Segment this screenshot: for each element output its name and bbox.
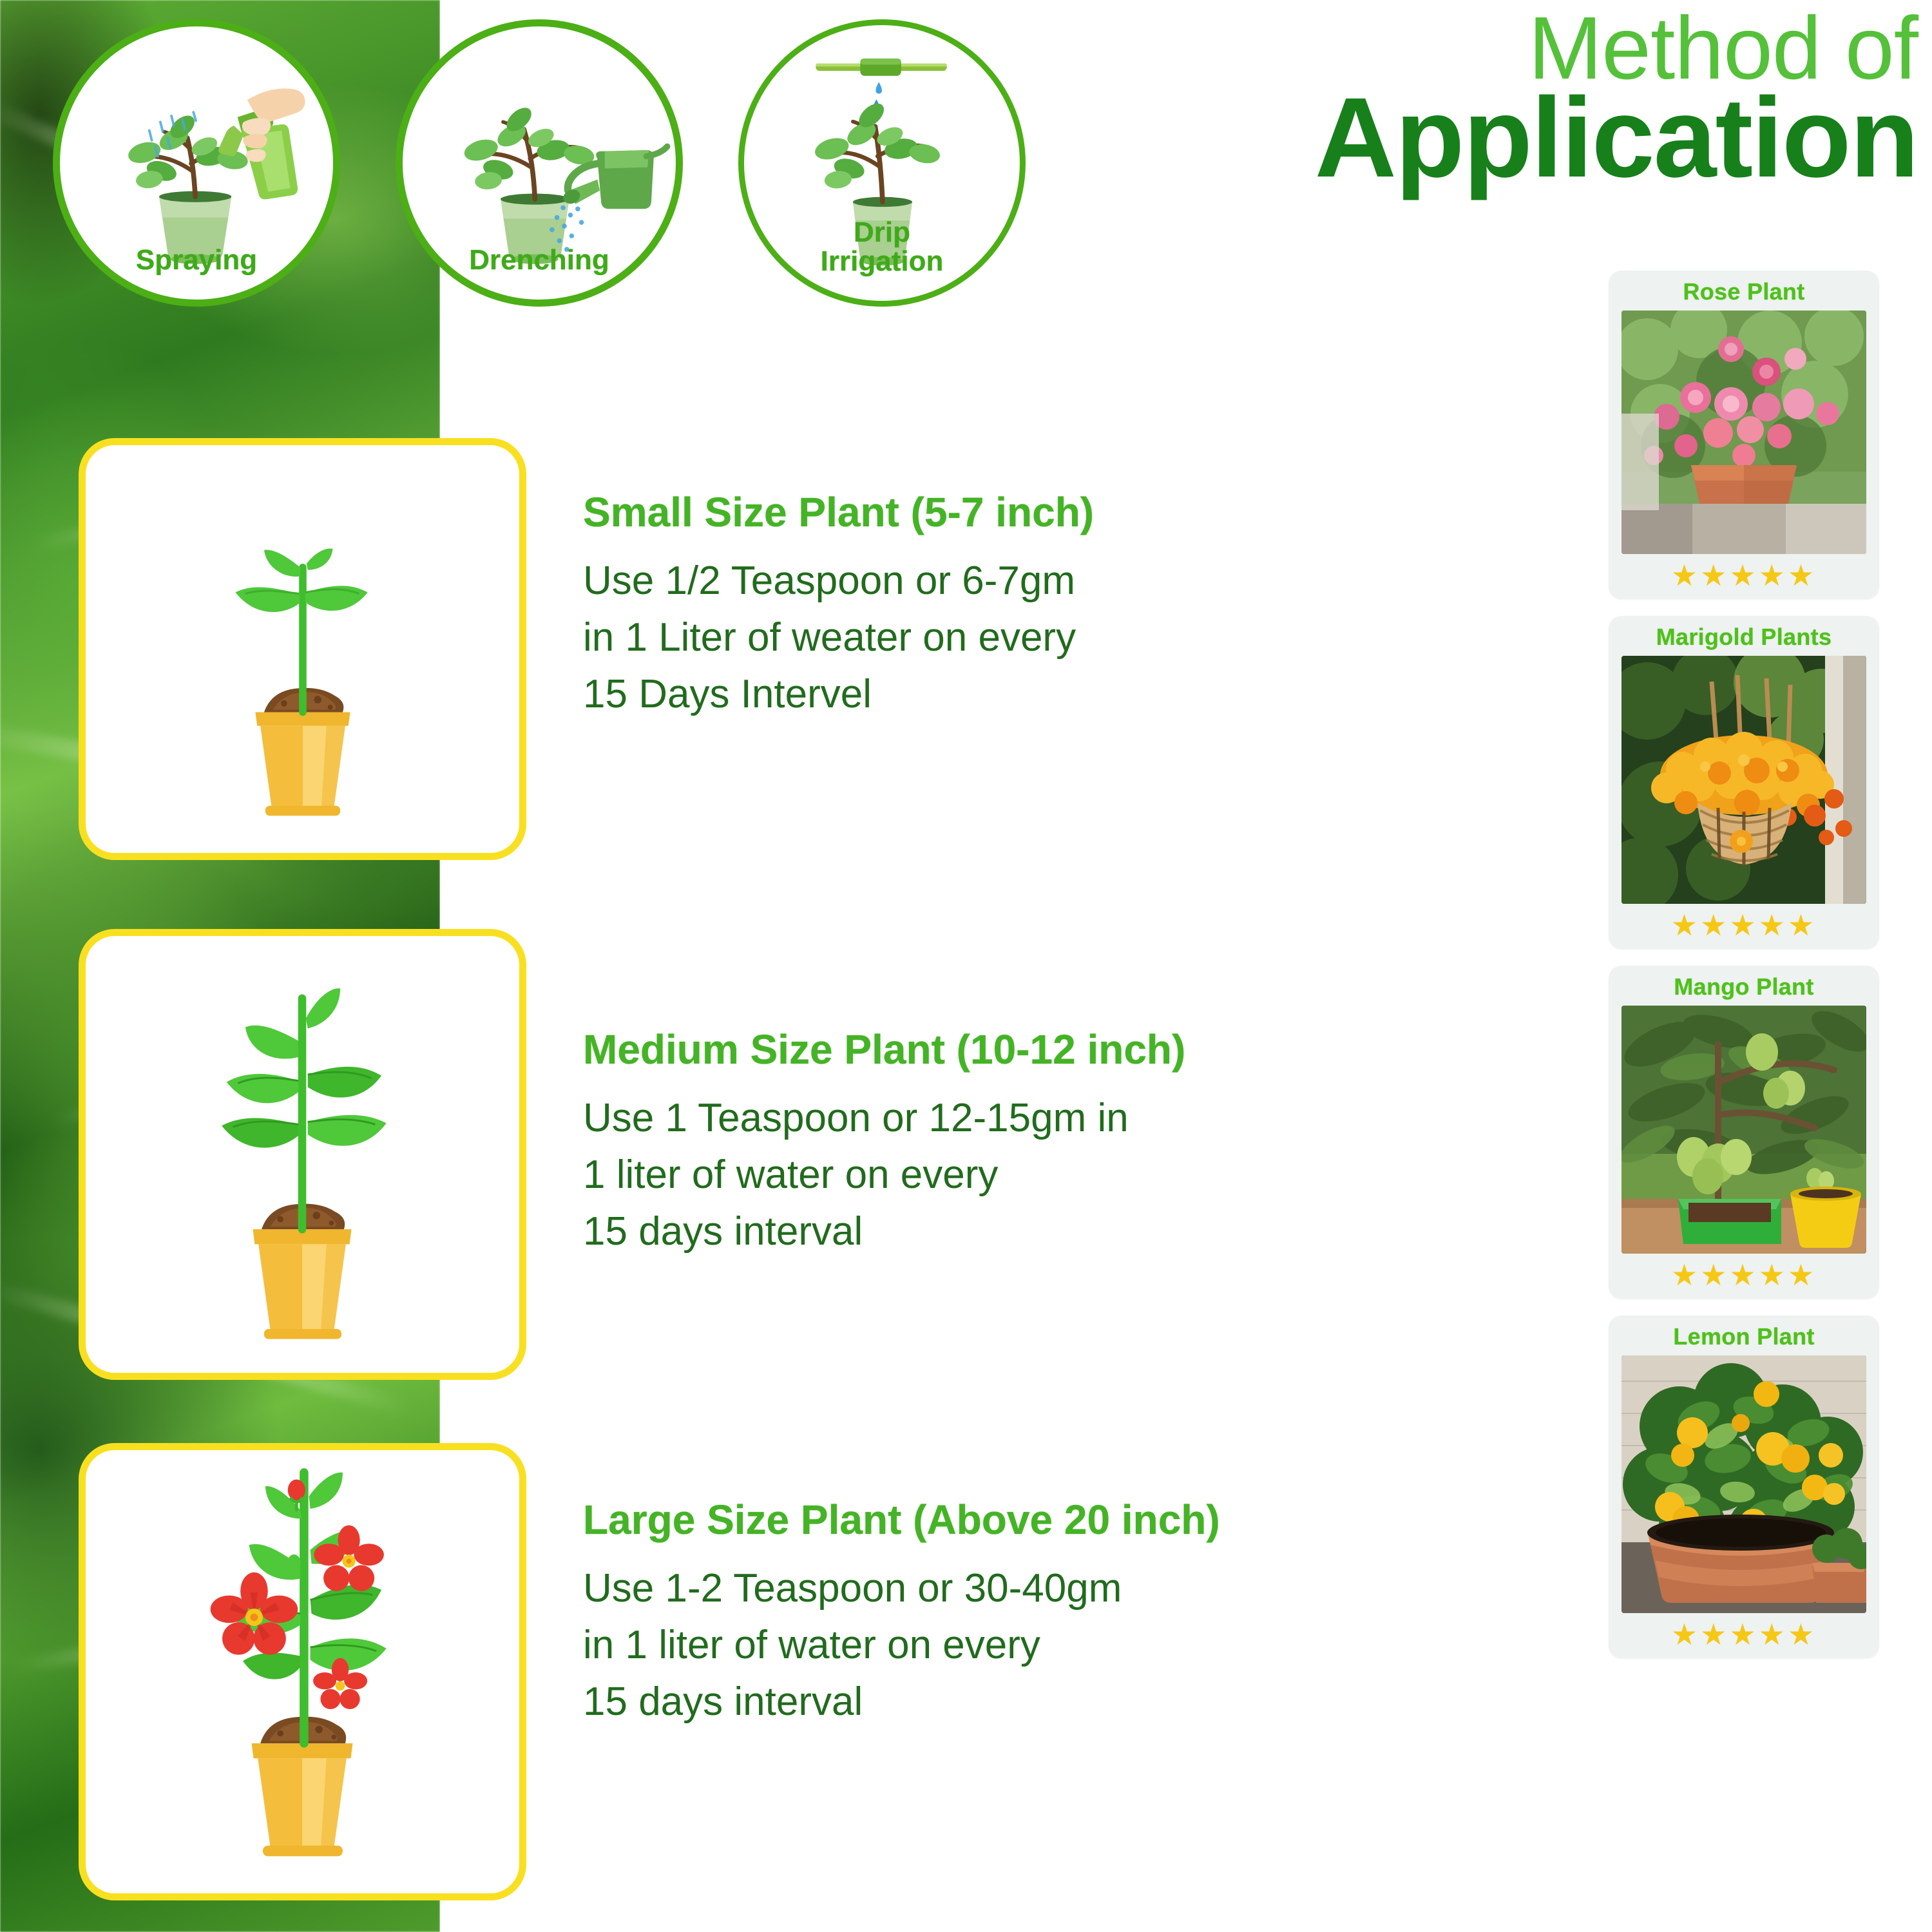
gallery-card-rose[interactable]: Rose Plant	[1609, 271, 1879, 599]
potted-pink-roses-photo	[1621, 311, 1866, 554]
dosage-line: 1 liter of water on every	[583, 1147, 1549, 1203]
dosage-line: in 1 Liter of weater on every	[583, 609, 1549, 666]
dosage-line: Use 1-2 Teaspoon or 30-40gm	[583, 1560, 1549, 1617]
dosage-title-medium: Medium Size Plant (10-12 inch)	[583, 1026, 1549, 1073]
gallery-title-lemon: Lemon Plant	[1615, 1321, 1873, 1355]
plant-illustration-card-medium	[79, 929, 526, 1380]
dosage-line: Use 1/2 Teaspoon or 6-7gm	[583, 553, 1549, 609]
method-circle-drip-irrigation[interactable]: Drip Irrigation	[738, 19, 1026, 307]
dosage-line: Use 1 Teaspoon or 12-15gm in	[583, 1090, 1549, 1147]
small-seedling-pot-icon	[86, 445, 519, 854]
method-circle-spraying[interactable]: Spraying	[53, 19, 340, 307]
dosage-title-large: Large Size Plant (Above 20 inch)	[583, 1496, 1549, 1544]
plant-illustration-card-small	[79, 438, 526, 860]
star-rating-marigold: ★★★★★	[1615, 904, 1873, 945]
potted-lemon-tree-photo	[1621, 1355, 1866, 1613]
dosage-text-large: Large Size Plant (Above 20 inch) Use 1-2…	[583, 1496, 1549, 1730]
hanging-marigold-basket-photo	[1621, 656, 1866, 904]
dosage-text-small: Small Size Plant (5-7 inch) Use 1/2 Teas…	[583, 488, 1549, 723]
page-title-line2: Application	[1315, 84, 1918, 192]
plant-illustration-card-large	[79, 1443, 526, 1900]
method-circle-drenching[interactable]: Drenching	[396, 19, 683, 307]
dosage-line: in 1 liter of water on every	[583, 1617, 1549, 1674]
method-label-drip-irrigation: Drip Irrigation	[821, 218, 944, 301]
dosage-text-medium: Medium Size Plant (10-12 inch) Use 1 Tea…	[583, 1026, 1549, 1260]
potted-mango-tree-photo	[1621, 1006, 1866, 1254]
method-label-spraying: Spraying	[136, 246, 257, 300]
plant-gallery: Rose Plant	[1609, 271, 1879, 1675]
medium-plant-pot-icon	[86, 936, 519, 1373]
dosage-line: 15 days interval	[583, 1203, 1549, 1260]
gallery-card-marigold[interactable]: Marigold Plants	[1609, 616, 1879, 949]
gallery-title-marigold: Marigold Plants	[1615, 621, 1873, 656]
gallery-title-rose: Rose Plant	[1615, 276, 1873, 311]
star-rating-rose: ★★★★★	[1615, 554, 1873, 595]
dosage-line: 15 days interval	[583, 1674, 1549, 1730]
dosage-line: 15 Days Intervel	[583, 666, 1549, 723]
gallery-title-mango: Mango Plant	[1615, 971, 1873, 1006]
star-rating-lemon: ★★★★★	[1615, 1613, 1873, 1654]
dosage-title-small: Small Size Plant (5-7 inch)	[583, 488, 1549, 536]
method-label-drenching: Drenching	[469, 246, 609, 300]
gallery-card-lemon[interactable]: Lemon Plant	[1609, 1315, 1879, 1658]
star-rating-mango: ★★★★★	[1615, 1254, 1873, 1295]
page-title: Method of Application	[1315, 6, 1918, 192]
gallery-card-mango[interactable]: Mango Plant	[1609, 966, 1879, 1299]
large-flowering-plant-pot-icon	[86, 1450, 519, 1893]
